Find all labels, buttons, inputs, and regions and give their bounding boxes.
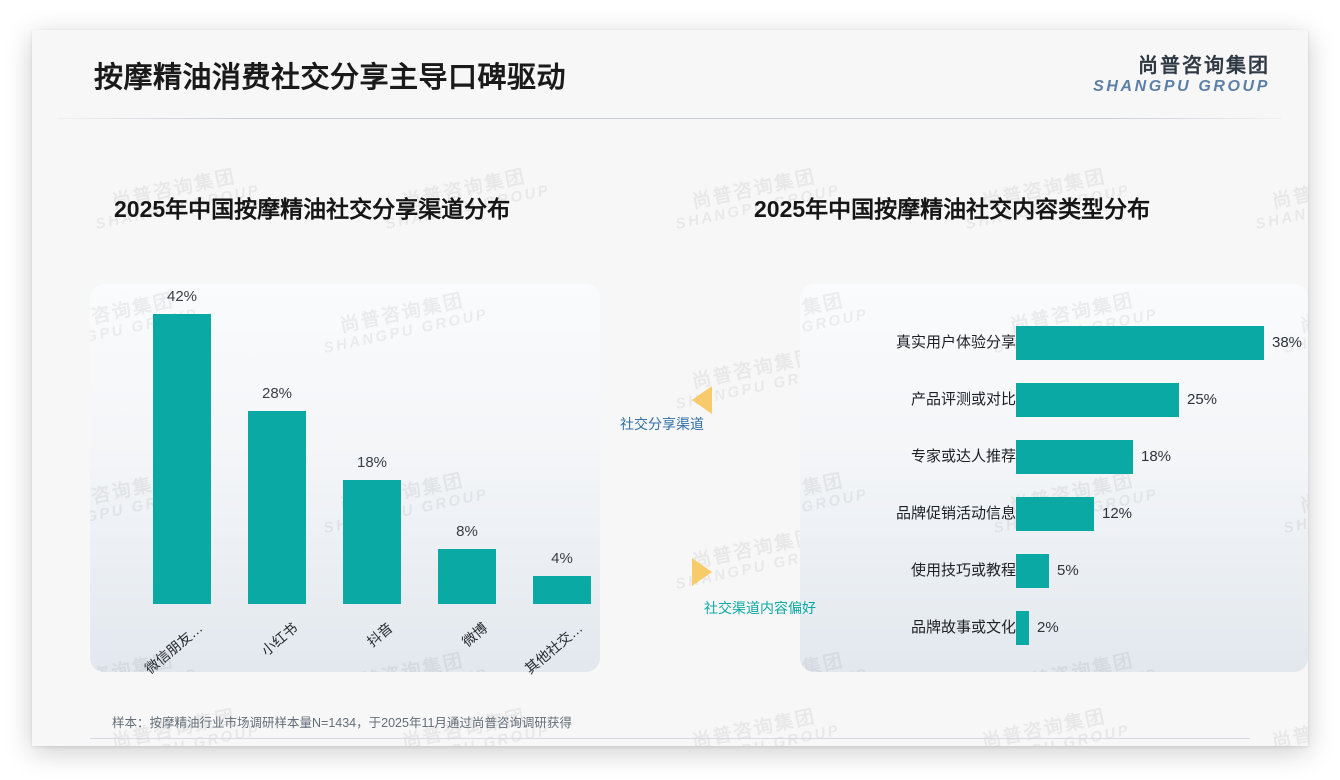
horizontal-bar-chart: 真实用户体验分享38%产品评测或对比25%专家或达人推荐18%品牌促销活动信息1…: [800, 284, 1308, 672]
bar-row: 专家或达人推荐18%: [800, 440, 1308, 474]
bar: [1016, 326, 1264, 360]
bar-row: 品牌促销活动信息12%: [800, 497, 1308, 531]
bar-row: 品牌故事或文化2%: [800, 611, 1308, 645]
bar-category-label: 小红书: [215, 618, 301, 695]
bar: [248, 411, 306, 604]
bar: [343, 480, 401, 604]
bar-category-label: 产品评测或对比: [806, 383, 1016, 417]
bar-category-label: 其他社交…: [500, 618, 586, 695]
brand-logo: 尚普咨询集团 SHANGPU GROUP: [1093, 56, 1270, 96]
bar-category-label: 使用技巧或教程: [806, 554, 1016, 588]
bar-category-label: 品牌故事或文化: [806, 611, 1016, 645]
bar: [1016, 497, 1094, 531]
bar: [1016, 611, 1029, 645]
bar-value-label: 38%: [1272, 326, 1302, 360]
vertical-bar-chart: 42%微信朋友…28%小红书18%抖音8%微博4%其他社交…: [90, 284, 600, 672]
footer-divider: [90, 738, 1250, 739]
watermark-text: 尚普咨询集团SHANGPU GROUP: [960, 703, 1132, 746]
watermark-text: 尚普咨询集团SHANGPU GROUP: [1250, 703, 1308, 746]
bar-value-label: 18%: [1141, 440, 1171, 474]
bar-value-label: 42%: [142, 288, 222, 305]
bar-category-label: 抖音: [310, 618, 396, 695]
bar: [533, 576, 591, 604]
watermark-text: 尚普咨询集团SHANGPU GROUP: [1250, 163, 1308, 233]
bar-value-label: 18%: [332, 454, 412, 471]
sample-note: 样本：按摩精油行业市场调研样本量N=1434，于2025年11月通过尚普咨询调研…: [112, 712, 572, 731]
bar: [438, 549, 496, 604]
bar-category-label: 专家或达人推荐: [806, 440, 1016, 474]
bar-category-label: 微信朋友…: [120, 618, 206, 695]
logo-text-en: SHANGPU GROUP: [1093, 79, 1270, 96]
bar-category-label: 真实用户体验分享: [806, 326, 1016, 360]
bar-value-label: 28%: [237, 385, 317, 402]
slide-canvas: 尚普咨询集团SHANGPU GROUP尚普咨询集团SHANGPU GROUP尚普…: [32, 30, 1308, 746]
bar-row: 真实用户体验分享38%: [800, 326, 1308, 360]
bar: [153, 314, 211, 604]
bar: [1016, 440, 1133, 474]
bar: [1016, 554, 1049, 588]
left-chart-title: 2025年中国按摩精油社交分享渠道分布: [114, 190, 510, 224]
page-title: 按摩精油消费社交分享主导口碑驱动: [94, 54, 566, 96]
bar-value-label: 4%: [522, 550, 602, 567]
bar: [1016, 383, 1179, 417]
logo-text-cn: 尚普咨询集团: [1093, 56, 1270, 77]
annotation-social-share-channel: 社交分享渠道: [620, 414, 704, 434]
right-chart-title: 2025年中国按摩精油社交内容类型分布: [754, 190, 1150, 224]
bar-value-label: 25%: [1187, 383, 1217, 417]
bar-value-label: 8%: [427, 523, 507, 540]
header-divider: [58, 118, 1282, 119]
bar-category-label: 品牌促销活动信息: [806, 497, 1016, 531]
bar-row: 产品评测或对比25%: [800, 383, 1308, 417]
triangle-right-icon: [692, 558, 712, 586]
bar-value-label: 12%: [1102, 497, 1132, 531]
annotation-content-preference: 社交渠道内容偏好: [704, 598, 816, 618]
watermark-text: 尚普咨询集团SHANGPU GROUP: [670, 703, 842, 746]
triangle-left-icon: [692, 386, 712, 414]
bar-category-label: 微博: [405, 618, 491, 695]
bar-row: 使用技巧或教程5%: [800, 554, 1308, 588]
bar-value-label: 2%: [1037, 611, 1059, 645]
bar-value-label: 5%: [1057, 554, 1079, 588]
slide-header: 按摩精油消费社交分享主导口碑驱动 尚普咨询集团 SHANGPU GROUP: [32, 30, 1308, 120]
